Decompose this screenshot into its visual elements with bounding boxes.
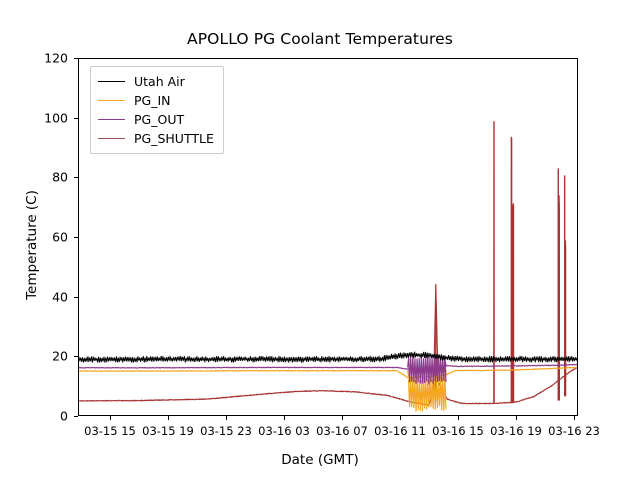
x-tick-mark: [342, 416, 343, 420]
y-tick-label-60: 60: [8, 230, 68, 245]
x-tick-mark: [574, 416, 575, 420]
x-tick-label-4: 03-16 07: [316, 424, 368, 438]
legend-label-pg-shuttle: PG_SHUTTLE: [134, 131, 214, 146]
y-tick-label-100: 100: [8, 110, 68, 125]
legend-item-pg-in: PG_IN: [98, 91, 214, 110]
x-tick-label-1: 03-15 19: [142, 424, 194, 438]
legend-item-utah-air: Utah Air: [98, 72, 214, 91]
x-tick-mark: [516, 416, 517, 420]
y-tick-label-80: 80: [8, 170, 68, 185]
legend-label-pg-out: PG_OUT: [134, 112, 184, 127]
chart-figure: APOLLO PG Coolant Temperatures Temperatu…: [0, 0, 640, 480]
x-tick-label-0: 03-15 15: [84, 424, 136, 438]
x-tick-mark: [400, 416, 401, 420]
legend-item-pg-out: PG_OUT: [98, 110, 214, 129]
legend-swatch-pg-out: [98, 119, 125, 120]
x-axis-title: Date (GMT): [0, 452, 640, 468]
y-tick-mark: [74, 416, 78, 417]
x-tick-mark: [110, 416, 111, 420]
x-tick-label-8: 03-16 23: [548, 424, 600, 438]
x-tick-mark: [284, 416, 285, 420]
y-tick-label-20: 20: [8, 349, 68, 364]
y-tick-label-0: 0: [8, 409, 68, 424]
x-tick-label-3: 03-16 03: [258, 424, 310, 438]
legend-item-pg-shuttle: PG_SHUTTLE: [98, 129, 214, 148]
x-tick-label-5: 03-16 11: [374, 424, 426, 438]
legend-label-utah-air: Utah Air: [134, 74, 185, 89]
x-tick-label-2: 03-15 23: [200, 424, 252, 438]
x-tick-label-6: 03-16 15: [432, 424, 484, 438]
y-tick-label-40: 40: [8, 289, 68, 304]
x-tick-mark: [226, 416, 227, 420]
y-tick-label-120: 120: [8, 51, 68, 66]
legend: Utah Air PG_IN PG_OUT PG_SHUTTLE: [90, 66, 224, 154]
legend-swatch-pg-in: [98, 100, 125, 101]
x-tick-mark: [458, 416, 459, 420]
legend-label-pg-in: PG_IN: [134, 93, 171, 108]
x-tick-label-7: 03-16 19: [490, 424, 542, 438]
x-tick-mark: [168, 416, 169, 420]
chart-title: APOLLO PG Coolant Temperatures: [0, 30, 640, 48]
legend-swatch-utah-air: [98, 81, 125, 82]
legend-swatch-pg-shuttle: [98, 138, 125, 139]
